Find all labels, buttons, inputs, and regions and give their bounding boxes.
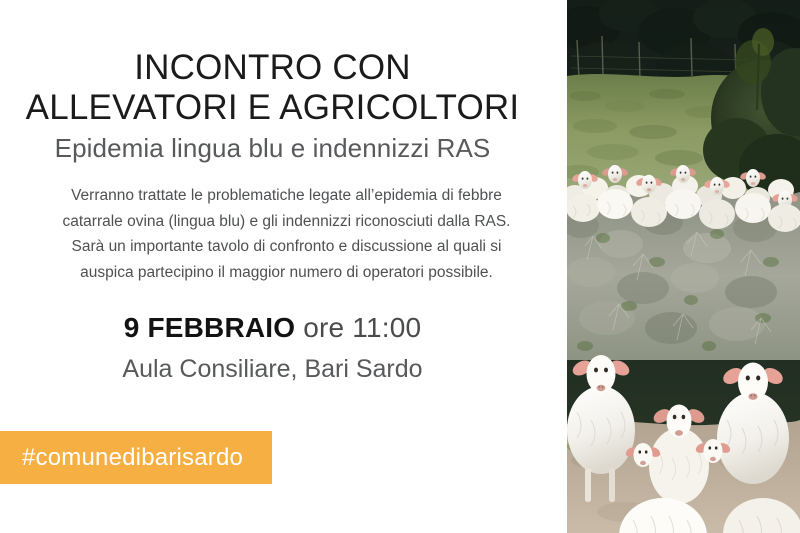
event-date: 9 FEBBRAIO (124, 312, 296, 343)
body-line: catarrale ovina (lingua blu) e gli inden… (28, 209, 545, 235)
subheadline: Epidemia lingua blu e indennizzi RAS (0, 131, 545, 165)
hashtag-label: #comunedibarisardo (0, 444, 243, 472)
event-datetime-line: 9 FEBBRAIO ore 11:00 (0, 310, 545, 350)
event-venue: Aula Consiliare, Bari Sardo (0, 352, 545, 386)
headline-line-1: INCONTRO CON (0, 48, 545, 88)
event-details-block: 9 FEBBRAIO ore 11:00 Aula Consiliare, Ba… (0, 310, 545, 386)
event-poster: INCONTRO CON ALLEVATORI E AGRICOLTORI Ep… (0, 0, 800, 533)
event-time-value: ore 11:00 (303, 312, 421, 343)
body-line: Sarà un importante tavolo di confronto e… (28, 234, 545, 260)
headline-line-2: ALLEVATORI E AGRICOLTORI (0, 88, 545, 128)
hashtag-badge: #comunedibarisardo (0, 431, 272, 484)
text-panel: INCONTRO CON ALLEVATORI E AGRICOLTORI Ep… (0, 0, 567, 533)
body-paragraph: Verranno trattate le problematiche legat… (28, 183, 545, 285)
body-line: Verranno trattate le problematiche legat… (28, 183, 545, 209)
flock-of-sheep-in-field-photo (567, 0, 800, 533)
headline-block: INCONTRO CON ALLEVATORI E AGRICOLTORI Ep… (0, 48, 545, 165)
body-line: auspica partecipino il maggior numero di… (28, 260, 545, 286)
